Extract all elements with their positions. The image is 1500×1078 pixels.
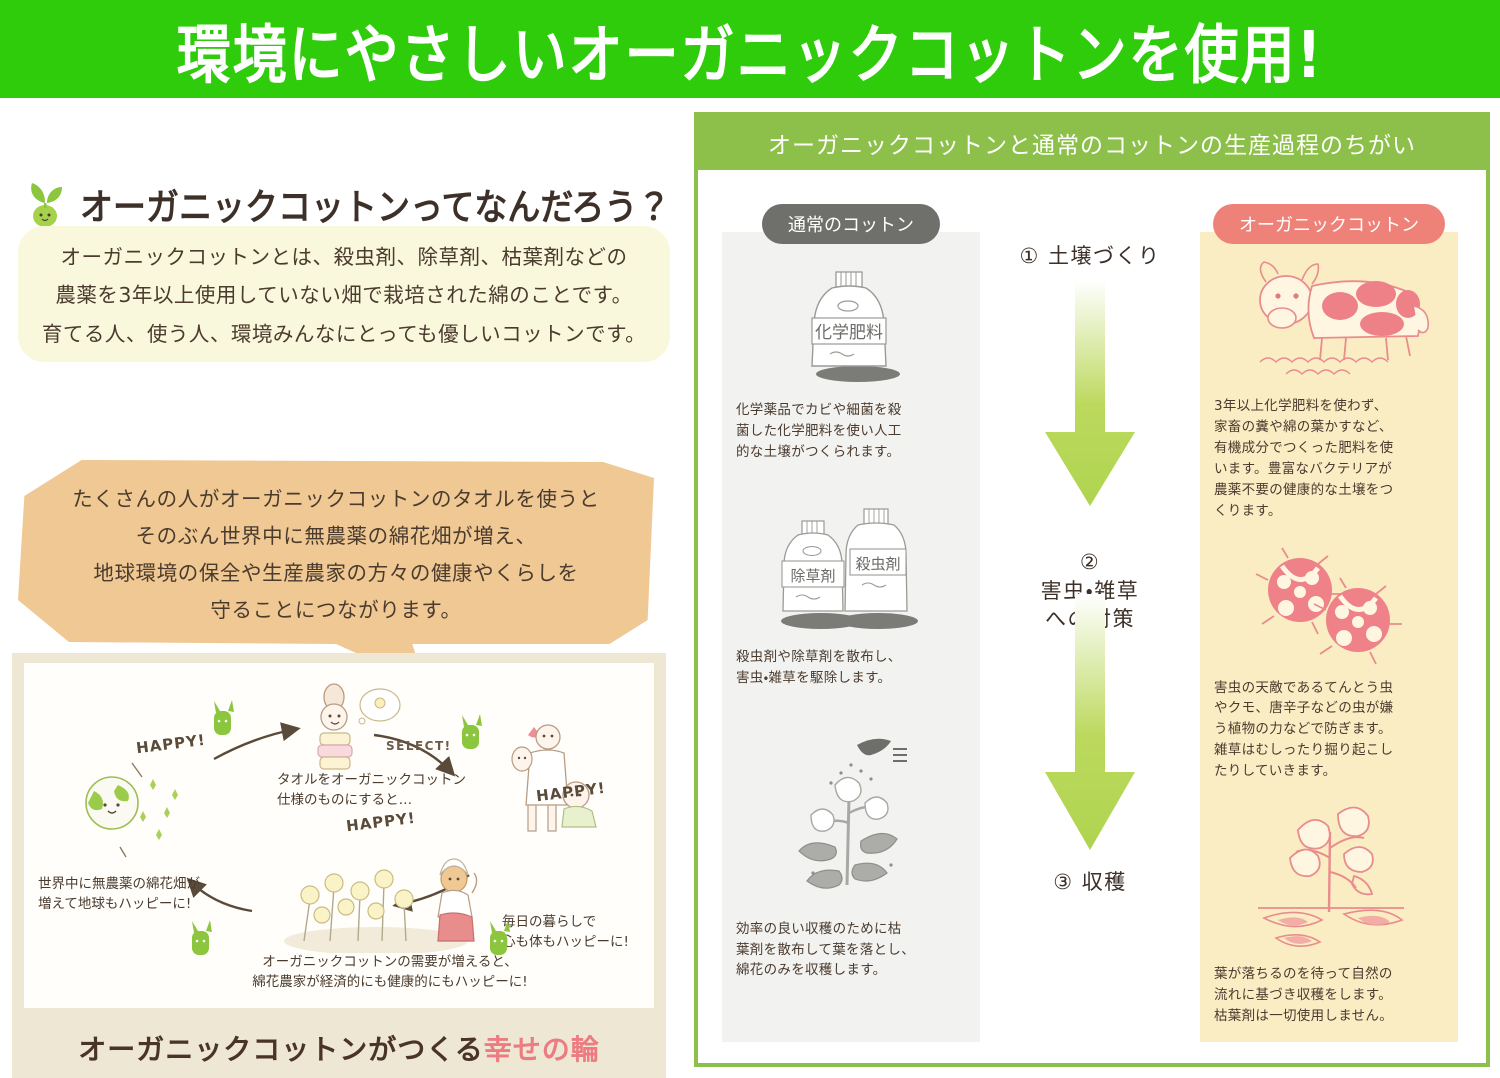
crop-duster-spraying-icon (722, 727, 980, 907)
rabbit-mascot-icon (184, 919, 218, 963)
happy-earth-icon (72, 755, 192, 865)
happiness-cycle-diagram: HAPPY! SELECT! タオルをオーガニックコットン 仕様のものにすると… (24, 663, 654, 1008)
select-word: SELECT! (386, 739, 452, 753)
step-number-2: ② (1080, 550, 1100, 574)
org-cell-3: 葉が落ちるのを待って自然の 流れに基づき収穫をします。 枯葉剤は一切使用しません… (1200, 782, 1458, 1027)
herbicide-bottle-label: 除草剤 (790, 567, 835, 585)
sprout-mascot-icon (24, 176, 68, 228)
rabbit-mascot-icon (206, 699, 240, 743)
step-text-3: 収穫 (1082, 870, 1127, 894)
pesticide-bottles-icon: 除草剤 殺虫剤 (722, 493, 980, 633)
rabbit-mascot-icon (482, 919, 516, 963)
comparison-panel-header: オーガニックコットンと通常のコットンの生産過程のちがい (698, 116, 1486, 170)
ladybug-icon (1200, 546, 1458, 666)
intro-line: 農薬を3年以上使用していない畑で栽培された綿のことです。 (40, 280, 648, 310)
conv-caption-1: 化学薬品でカビや細菌を殺 菌した化学肥料を使い人工 的な土壌がつくられます。 (722, 400, 980, 463)
intro-line: 育てる人、使う人、環境みんなにとっても優しいコットンです。 (40, 319, 648, 349)
speech-bubble: たくさんの人がオーガニックコットンのタオルを使うと そのぶん世界中に無農薬の綿花… (18, 460, 654, 660)
step-label-1: ① 土壌づくり (984, 242, 1196, 270)
production-comparison-panel: オーガニックコットンと通常のコットンの生産過程のちがい 通常のコットン (694, 112, 1490, 1067)
column-organic-cotton: オーガニックコットン (1200, 232, 1458, 1042)
step-label-3: ③ 収穫 (984, 868, 1196, 896)
org-caption-1: 3年以上化学肥料を使わず、 家畜の糞や綿の葉かすなど、 有機成分でつくった肥料を… (1200, 396, 1458, 522)
conv-cell-1: 化学肥料 化学薬品でカビや細菌を殺 菌した化学肥料を使い人工 的な土壌がつくられ… (722, 232, 980, 463)
step-text-1: 土壌づくり (1048, 244, 1161, 268)
happiness-cycle-panel: HAPPY! SELECT! タオルをオーガニックコットン 仕様のものにすると… (12, 653, 666, 1078)
insecticide-bottle-label: 殺虫剤 (855, 555, 900, 573)
page-banner-title: 環境にやさしいオーガニックコットンを使用! (177, 2, 1324, 95)
conv-cell-3: 効率の良い収穫のために枯 葉剤を散布して葉を落とし、 綿花のみを収穫します。 (722, 689, 980, 982)
intro-text-bubble: オーガニックコットンとは、殺虫剤、除草剤、枯葉剤などの 農薬を3年以上使用してい… (18, 226, 670, 362)
conv-caption-2: 殺虫剤や除草剤を散布し、 害虫・雑草を駆除します。 (722, 647, 980, 689)
cotton-farmer-in-field-icon (276, 823, 496, 953)
comparison-panel-title: オーガニックコットンと通常のコットンの生産過程のちがい (768, 126, 1416, 160)
cotton-plant-dropped-leaves-icon (1200, 802, 1458, 952)
comparison-panel-body: 通常のコットン 化学肥料 (698, 170, 1486, 1063)
org-cell-1: 3年以上化学肥料を使わず、 家畜の糞や綿の葉かすなど、 有機成分でつくった肥料を… (1200, 232, 1458, 522)
conv-caption-3: 効率の良い収穫のために枯 葉剤を散布して葉を落とし、 綿花のみを収穫します。 (722, 919, 980, 982)
org-caption-3: 葉が落ちるのを待って自然の 流れに基づき収穫をします。 枯葉剤は一切使用しません… (1200, 964, 1458, 1027)
page-banner: 環境にやさしいオーガニックコットンを使用! (0, 0, 1500, 98)
speech-line: そのぶん世界中に無農薬の綿花畑が増え、 (18, 519, 654, 549)
left-column: オーガニックコットンってなんだろう？ オーガニックコットンとは、殺虫剤、除草剤、… (0, 98, 690, 1078)
rabbit-mascot-icon (454, 713, 488, 757)
org-caption-2: 害虫の天敵であるてんとう虫 やクモ、唐辛子などの虫が嫌 う植物の力などで防ぎます… (1200, 678, 1458, 783)
speech-line: 地球環境の保全や生産農家の方々の健康やくらしを (18, 556, 654, 586)
intro-heading-text: オーガニックコットンってなんだろう？ (80, 178, 670, 231)
speech-bubble-text: たくさんの人がオーガニックコットンのタオルを使うと そのぶん世界中に無農薬の綿花… (18, 482, 654, 630)
down-arrow-2 (1035, 594, 1145, 854)
speech-line: たくさんの人がオーガニックコットンのタオルを使うと (18, 482, 654, 512)
cycle-caption-4: 世界中に無農薬の綿花畑が 増えて地球もハッピーに! (38, 875, 238, 914)
cycle-title: オーガニックコットンがつくる幸せの輪 (12, 1028, 666, 1068)
fertilizer-bottle-label: 化学肥料 (815, 323, 883, 343)
org-cell-2: 害虫の天敵であるてんとう虫 やクモ、唐辛子などの虫が嫌 う植物の力などで防ぎます… (1200, 522, 1458, 783)
fertilizer-bottle-icon: 化学肥料 (722, 266, 980, 386)
step-number-1: ① (1019, 244, 1039, 268)
intro-line: オーガニックコットンとは、殺虫剤、除草剤、枯葉剤などの (40, 242, 648, 272)
down-arrow-1 (1035, 280, 1145, 510)
step-number-3: ③ (1053, 870, 1073, 894)
intro-heading: オーガニックコットンってなんだろう？ (24, 176, 664, 232)
cycle-caption-2: 毎日の暮らしで 心も体もハッピーに! (502, 913, 652, 952)
cycle-caption-1: タオルをオーガニックコットン 仕様のものにすると… (277, 771, 487, 810)
column-conventional-cotton: 通常のコットン 化学肥料 (722, 232, 980, 1042)
cycle-title-accent: 幸せの輪 (484, 1033, 600, 1066)
process-steps: ① 土壌づくり ② 害虫・雑草 への対策 (984, 232, 1196, 1042)
cow-icon (1200, 252, 1458, 382)
cycle-title-main: オーガニックコットンがつくる (78, 1033, 483, 1066)
conv-cell-2: 除草剤 殺虫剤 殺虫剤や除草剤を散布し、 害虫・雑草を駆除します。 (722, 463, 980, 689)
speech-line: 守ることにつながります。 (18, 593, 654, 623)
